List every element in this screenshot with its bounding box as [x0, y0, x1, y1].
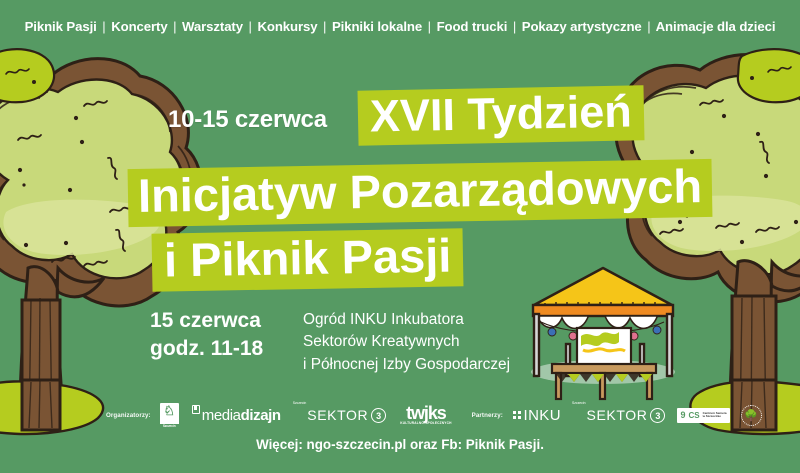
- footer-more-info: Więcej: ngo-szczecin.pl oraz Fb: Piknik …: [0, 437, 800, 452]
- logo-szczecin: ♘ Szczecin: [160, 403, 179, 428]
- title-line-3: i Piknik Pasji: [152, 228, 464, 291]
- event-venue: Ogród INKU Inkubatora Sektorów Kreatywny…: [303, 309, 510, 376]
- title-line-2: Inicjatyw Pozarządowych: [128, 159, 713, 227]
- logo-tree-emblem: 🌳: [741, 405, 762, 426]
- event-dates-kicker: 10-15 czerwca: [168, 106, 327, 134]
- sektor-3-sup: Szczecin: [293, 401, 307, 405]
- media-dizajn-part2: dizajn: [241, 407, 281, 424]
- logo-media-dizajn-text: mediadizajn: [202, 407, 281, 424]
- venue-line-2: Sektorów Kreatywnych: [303, 331, 510, 353]
- event-time: godz. 11-18: [150, 335, 263, 363]
- topbar-item-3: Konkursy: [257, 19, 317, 34]
- event-date: 15 czerwca: [150, 307, 263, 335]
- topbar-separator: |: [426, 19, 433, 34]
- twjks-subtitle: KULTURALNO-SPOŁECZNYCH: [400, 421, 451, 425]
- tree-emblem-icon: 🌳: [741, 405, 762, 426]
- organizers-label: Organizatorzy:: [106, 412, 151, 419]
- topbar-separator: |: [100, 19, 107, 34]
- media-dizajn-part1: media: [202, 407, 241, 424]
- logo-szczecin-caption: Szczecin: [160, 424, 179, 428]
- topbar-separator: |: [171, 19, 178, 34]
- cs-fullname-line2: w Szczecinie: [703, 414, 721, 418]
- title-line-1: XVII Tydzień: [357, 85, 644, 145]
- sektor-3-sup: Szczecin: [572, 401, 586, 405]
- topbar-separator: |: [247, 19, 254, 34]
- venue-line-3: i Północnej Izby Gospodarczej: [303, 354, 510, 376]
- logo-media-dizajn: mediadizajn: [192, 407, 281, 424]
- sektor-3-badge: 3: [371, 408, 386, 423]
- sektor-3-word: SEKTOR: [307, 407, 368, 423]
- topbar-items: Piknik Pasji | Koncerty | Warsztaty | Ko…: [25, 19, 776, 34]
- topbar-separator: |: [511, 19, 518, 34]
- twjks-word: twjks: [406, 406, 446, 421]
- event-poster: Piknik Pasji | Koncerty | Warsztaty | Ko…: [0, 0, 800, 473]
- topbar-item-1: Koncerty: [111, 19, 167, 34]
- sektor-3-word: SEKTOR: [587, 407, 648, 423]
- cs-swirl-icon: 9: [680, 411, 685, 420]
- credits-row: Organizatorzy: ♘ Szczecin mediadizajn Sz…: [0, 396, 800, 434]
- media-dizajn-mark-icon: [192, 405, 200, 414]
- cs-fullname: Centrum Semera w Szczecinie: [703, 412, 727, 419]
- topbar-item-2: Warsztaty: [182, 19, 243, 34]
- topbar-separator: |: [321, 19, 328, 34]
- venue-line-1: Ogród INKU Inkubatora: [303, 309, 510, 331]
- topbar-item-4: Pikniki lokalne: [332, 19, 422, 34]
- partners-label: Partnerzy:: [472, 412, 503, 419]
- topbar-separator: |: [645, 19, 652, 34]
- logo-sektor-3-organizer: Szczecin SEKTOR 3: [293, 407, 387, 423]
- tree-right-small: [738, 49, 800, 102]
- logo-inku: INKU: [513, 407, 561, 424]
- topbar: Piknik Pasji | Koncerty | Warsztaty | Ko…: [0, 0, 800, 52]
- inku-word: INKU: [524, 407, 561, 424]
- event-when: 15 czerwca godz. 11-18: [150, 307, 263, 363]
- topbar-item-5: Food trucki: [437, 19, 508, 34]
- topbar-item-7: Animacje dla dzieci: [656, 19, 776, 34]
- inku-dots-icon: [513, 411, 521, 419]
- sektor-3-badge: 3: [650, 408, 665, 423]
- topbar-item-0: Piknik Pasji: [25, 19, 97, 34]
- logo-sektor-3-partner: Szczecin SEKTOR 3: [572, 407, 666, 423]
- topbar-item-6: Pokazy artystyczne: [522, 19, 642, 34]
- cs-abbr: CS: [688, 411, 699, 420]
- logo-twjks: twjks KULTURALNO-SPOŁECZNYCH: [400, 406, 451, 425]
- griffin-icon: ♘: [163, 404, 175, 417]
- logo-cs: 9 CS Centrum Semera w Szczecinie: [677, 408, 729, 423]
